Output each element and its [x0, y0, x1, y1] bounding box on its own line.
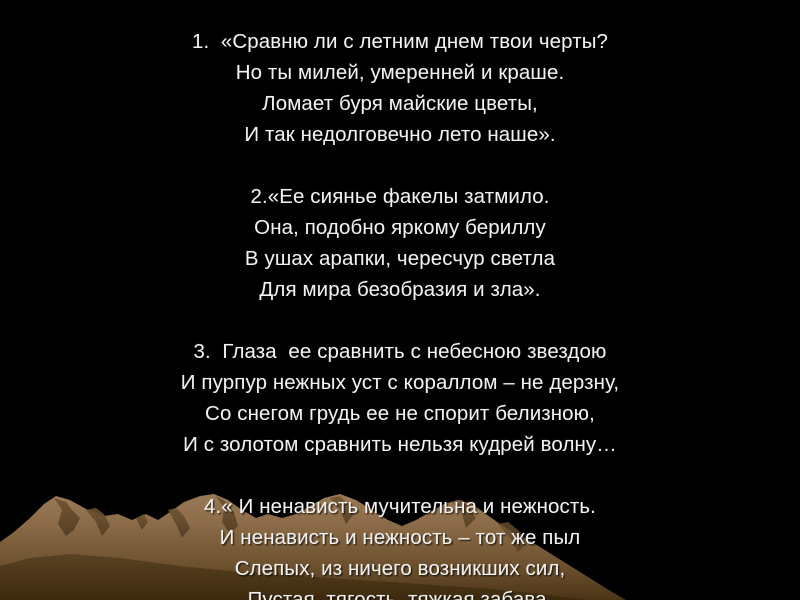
- presentation-slide: 1. «Сравню ли с летним днем твои черты? …: [0, 0, 800, 600]
- stanza-1: 1. «Сравню ли с летним днем твои черты? …: [0, 26, 800, 150]
- poem-line: 3. Глаза ее сравнить с небесною звездою: [0, 336, 800, 367]
- poem-line: 1. «Сравню ли с летним днем твои черты?: [0, 26, 800, 57]
- poem-line: И с золотом сравнить нельзя кудрей волну…: [0, 429, 800, 460]
- stanza-2: 2.«Ее сиянье факелы затмило. Она, подобн…: [0, 181, 800, 305]
- poem-line: Она, подобно яркому бериллу: [0, 212, 800, 243]
- poem-line: Для мира безобразия и зла».: [0, 274, 800, 305]
- poem-line: 4.« И ненависть мучительна и нежность.: [0, 491, 800, 522]
- stanza-4: 4.« И ненависть мучительна и нежность. И…: [0, 491, 800, 600]
- poem-line: Со снегом грудь ее не спорит белизною,: [0, 398, 800, 429]
- poem-line: Но ты милей, умеренней и краше.: [0, 57, 800, 88]
- poem-line: Пустая тягость, тяжкая забава,: [0, 584, 800, 600]
- poem-line: 2.«Ее сиянье факелы затмило.: [0, 181, 800, 212]
- poem-text-container: 1. «Сравню ли с летним днем твои черты? …: [0, 0, 800, 600]
- poem-line: В ушах арапки, чересчур светла: [0, 243, 800, 274]
- poem-line: И пурпур нежных уст с кораллом – не дерз…: [0, 367, 800, 398]
- poem-line: Слепых, из ничего возникших сил,: [0, 553, 800, 584]
- poem-line: И ненависть и нежность – тот же пыл: [0, 522, 800, 553]
- stanza-3: 3. Глаза ее сравнить с небесною звездою …: [0, 336, 800, 460]
- poem-line: И так недолговечно лето наше».: [0, 119, 800, 150]
- poem-line: Ломает буря майские цветы,: [0, 88, 800, 119]
